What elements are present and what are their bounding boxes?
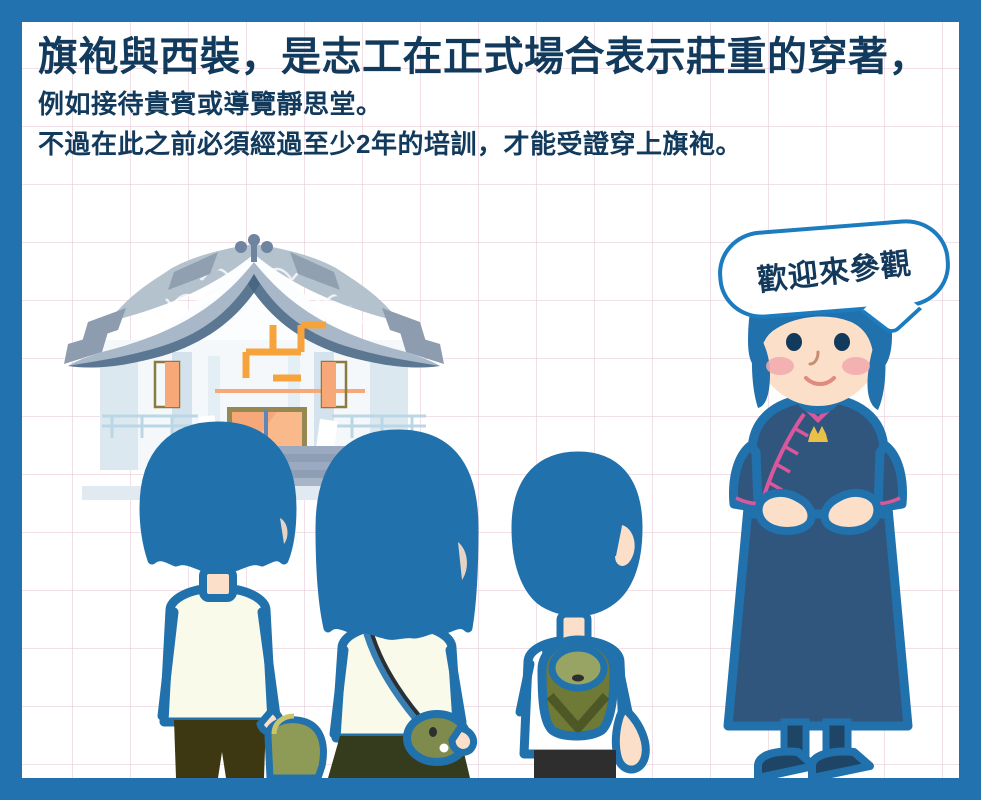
- caption-block: 旗袍與西裝，是志工在正式場合表示莊重的穿著， 例如接待貴賓或導覽靜思堂。 不過在…: [38, 30, 943, 164]
- caption-line-2: 例如接待貴賓或導覽靜思堂。: [38, 84, 943, 124]
- illustration-canvas: 歡迎來參觀 旗袍與西裝，是志工在正式場合表示莊重的穿著， 例如接待貴賓或導覽靜思…: [22, 22, 959, 778]
- caption-line-1: 旗袍與西裝，是志工在正式場合表示莊重的穿著，: [38, 30, 943, 84]
- cheek-right: [842, 357, 870, 375]
- child-backpack: [542, 640, 614, 736]
- eye-left: [786, 333, 802, 351]
- visitor-one-bag: [268, 716, 323, 778]
- child-figure: [516, 456, 646, 778]
- visitor-two-figure: [320, 434, 474, 778]
- speech-bubble: 歡迎來參觀: [715, 216, 953, 322]
- cheek-left: [766, 357, 794, 375]
- caption-line-3: 不過在此之前必須經過至少2年的培訓，才能受證穿上旗袍。: [38, 124, 943, 164]
- eye-right: [834, 333, 850, 351]
- illustration-frame: 歡迎來參觀 旗袍與西裝，是志工在正式場合表示莊重的穿著， 例如接待貴賓或導覽靜思…: [0, 0, 981, 800]
